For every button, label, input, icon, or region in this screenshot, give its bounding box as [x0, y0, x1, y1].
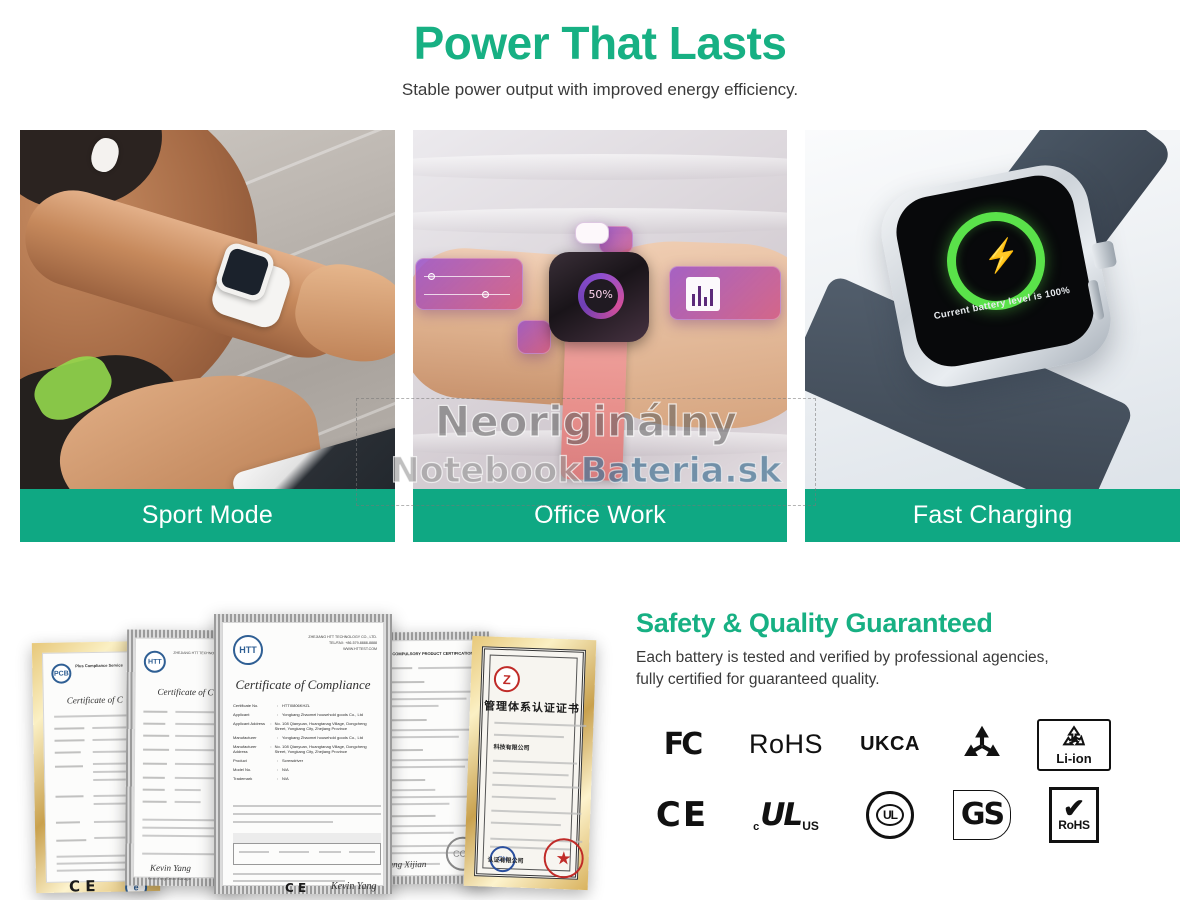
certificate-collage: PCB Plus Compliance Service Certificate …	[18, 608, 598, 898]
li-ion-label: Li-ion	[1056, 751, 1091, 766]
watch-percent-label: 50%	[578, 288, 624, 301]
cert-main-title: Certificate of Compliance	[223, 677, 383, 693]
cert-field-label: Manufacturer Address	[233, 744, 270, 754]
lightning-bolt-icon: ⚡	[981, 239, 1023, 276]
cert-cn-footer: 认证有限公司	[487, 855, 523, 865]
certificate-chinese-system[interactable]: Z 管理体系认证证书 科技有限公司 ★ CN 认证有限公司	[464, 636, 597, 890]
feature-caption-sport-mode: Sport Mode	[20, 489, 395, 542]
safety-body-line-2: fully certified for guaranteed quality.	[636, 671, 880, 688]
cert-field-list: Certificate No. : HTTI0806KHZL Applicant…	[233, 703, 375, 785]
cert-field-value: N/A	[282, 767, 289, 772]
ukca-icon: UK CA	[844, 716, 936, 774]
bar-chart-icon	[686, 277, 720, 311]
digital-crown	[1091, 240, 1118, 270]
safety-body: Each battery is tested and verified by p…	[636, 647, 1181, 692]
cert-field-label: Model No.	[233, 767, 277, 772]
cert-field-label: Trademark	[233, 776, 277, 781]
gs-label: GS	[961, 797, 1003, 832]
bottom-section: PCB Plus Compliance Service Certificate …	[0, 580, 1200, 900]
safety-quality-block: Safety & Quality Guaranteed Each battery…	[636, 608, 1181, 846]
page-header: Power That Lasts Stable power output wit…	[0, 0, 1200, 100]
ui-card-contact	[575, 222, 609, 244]
feature-card-fast-charging[interactable]: ⚡ Current battery level is 100% Fast Cha…	[805, 130, 1180, 542]
cert-ccc-title: CHINA COMPULSORY PRODUCT CERTIFICATION	[378, 651, 474, 657]
cert-pcb-ce-mark: C E	[69, 877, 96, 893]
ui-card-settings	[517, 320, 551, 354]
ce-label: CE	[656, 795, 708, 835]
cul-suffix: US	[802, 819, 819, 833]
page-title: Power That Lasts	[0, 18, 1200, 70]
feature-card-sport-mode[interactable]: Sport Mode	[20, 130, 395, 542]
cul-us-icon: c UL US	[728, 786, 844, 844]
ul-registered-label: UL	[876, 804, 904, 826]
ukca-label-top: UK	[860, 735, 890, 754]
cert-field-label: Applicant	[233, 712, 277, 717]
rohs-check-label: RoHS	[1058, 818, 1089, 832]
recycle-icon	[936, 716, 1028, 774]
rohs-check-icon: ✔ RoHS	[1028, 786, 1120, 844]
fcc-icon: FC	[636, 716, 728, 774]
ce-icon: CE	[636, 786, 728, 844]
safety-body-line-1: Each battery is tested and verified by p…	[636, 649, 1049, 666]
gs-icon: GS	[936, 786, 1028, 844]
cert-field-value: No. 108 Qianyuan, Huangtanag Village, Do…	[275, 721, 375, 731]
ul-registered-icon: UL	[844, 786, 936, 844]
office-work-photo: 50%	[413, 130, 788, 489]
safety-title: Safety & Quality Guaranteed	[636, 608, 1181, 639]
cert-field-value: Yongkang Zhaomei household goods Co., Lt…	[282, 712, 363, 717]
feature-card-office-work[interactable]: 50% Office Work	[413, 130, 788, 542]
page-subtitle: Stable power output with improved energy…	[0, 80, 1200, 100]
ui-card-chart	[669, 266, 781, 320]
badge-row-1: FC RoHS UK CA	[636, 714, 1181, 776]
rohs-check-mark: ✔	[1063, 798, 1085, 819]
cert-field-value: Yongkang Zhaomei household goods Co., Lt…	[282, 735, 363, 740]
cert-field-value: Screwdriver	[282, 758, 303, 763]
cul-label: UL	[760, 797, 801, 833]
fcc-label: FC	[664, 727, 701, 762]
cert-field-value: HTTI0806KHZL	[282, 703, 310, 708]
li-ion-icon: Li-ion	[1028, 716, 1120, 774]
cert-field-label: Certificate No.	[233, 703, 277, 708]
sport-mode-photo	[20, 130, 395, 489]
ukca-label-bottom: CA	[890, 735, 920, 754]
cert-main-ce-mark: C E	[285, 881, 306, 894]
cert-field-label: Manufacturer	[233, 735, 277, 740]
cert-field-label: Product	[233, 758, 277, 763]
badge-row-2: CE c UL US UL GS	[636, 784, 1181, 846]
cul-prefix: c	[753, 821, 759, 833]
cert-field-label: Applicant Address	[233, 721, 270, 731]
certificate-of-compliance[interactable]: HTT ZHEJIANG HTT TECHNOLOGY CO., LTD. TE…	[214, 614, 392, 894]
feature-caption-office-work: Office Work	[413, 489, 788, 542]
rohs-label: RoHS	[749, 729, 823, 760]
feature-card-list: Sport Mode	[20, 130, 1180, 542]
cert-field-value: No. 108 Qianyuan, Huangtanag Village, Do…	[275, 744, 375, 754]
fast-charging-photo: ⚡ Current battery level is 100%	[805, 130, 1180, 489]
cert-field-value: N/A	[282, 776, 289, 781]
ui-card-sliders	[415, 258, 523, 310]
cert-cn-title: 管理体系认证证书	[483, 697, 581, 716]
feature-caption-fast-charging: Fast Charging	[805, 489, 1180, 542]
rohs-icon: RoHS	[728, 716, 844, 774]
certification-badge-grid: FC RoHS UK CA	[636, 714, 1181, 846]
